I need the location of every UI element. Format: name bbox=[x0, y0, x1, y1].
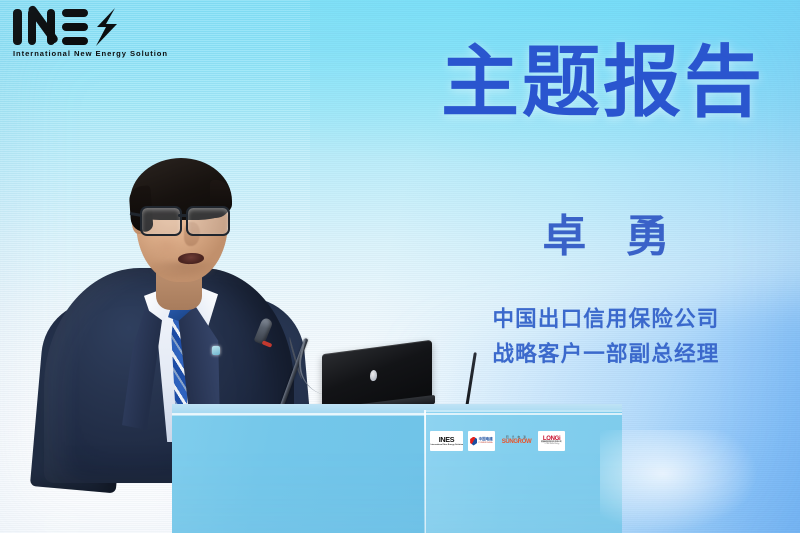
lapel-pin bbox=[212, 346, 220, 355]
letter-e-glyph bbox=[62, 9, 88, 45]
slide-org-line-1: 中国出口信用保险公司 bbox=[456, 303, 756, 338]
podium-sponsor-logos: INES International New Energy Solution 中… bbox=[430, 428, 565, 454]
sponsor-ines-mark: INES bbox=[439, 436, 455, 443]
sponsor-logo-ines: INES International New Energy Solution bbox=[430, 431, 463, 451]
sponsor-logo-powerchina: 中国电建 POWERCHINA bbox=[468, 431, 495, 451]
podium-front-panel bbox=[172, 414, 425, 533]
slide-speaker-name: 卓 勇 bbox=[470, 214, 742, 260]
eyeglass-bridge bbox=[178, 214, 188, 217]
lightning-bolt-icon bbox=[93, 8, 119, 46]
eyeglasses-icon bbox=[136, 206, 232, 234]
chin-shading bbox=[152, 262, 214, 282]
ines-brand-logo: International New Energy Solution bbox=[13, 9, 163, 58]
cheek-shading bbox=[152, 234, 182, 258]
podium-top-highlight bbox=[172, 413, 622, 415]
sponsor-longi-tagline2: LONGi Green Energy bbox=[544, 444, 559, 446]
podium-corner-seam bbox=[424, 410, 426, 533]
sponsor-ines-tagline: International New Energy Solution bbox=[430, 444, 462, 446]
powerchina-hex-icon bbox=[470, 437, 477, 446]
ines-wordmark bbox=[13, 9, 163, 45]
ines-tagline: International New Energy Solution bbox=[13, 49, 163, 58]
letter-n-glyph bbox=[28, 9, 55, 45]
letter-i-glyph bbox=[13, 9, 22, 45]
eyeglass-lens-right bbox=[186, 206, 230, 236]
slide-org-line-2: 战略客户一部副总经理 bbox=[456, 338, 756, 373]
eyeglass-lens-left bbox=[140, 206, 182, 236]
sponsor-powerchina-tagline: POWERCHINA bbox=[479, 442, 493, 444]
conference-photo: International New Energy Solution 主题报告 卓… bbox=[0, 0, 800, 533]
sponsor-logo-sungrow: 阳 光 电 源 SUNGROW bbox=[500, 431, 534, 451]
sponsor-logo-longi: LONGi 隆基绿能科技股份有限公司 LONGi Green Energy bbox=[538, 431, 565, 451]
sponsor-sungrow-mark: SUNGROW bbox=[502, 439, 532, 445]
slide-speaker-org: 中国出口信用保险公司 战略客户一部副总经理 bbox=[456, 303, 756, 373]
slide-title: 主题报告 bbox=[438, 44, 768, 124]
